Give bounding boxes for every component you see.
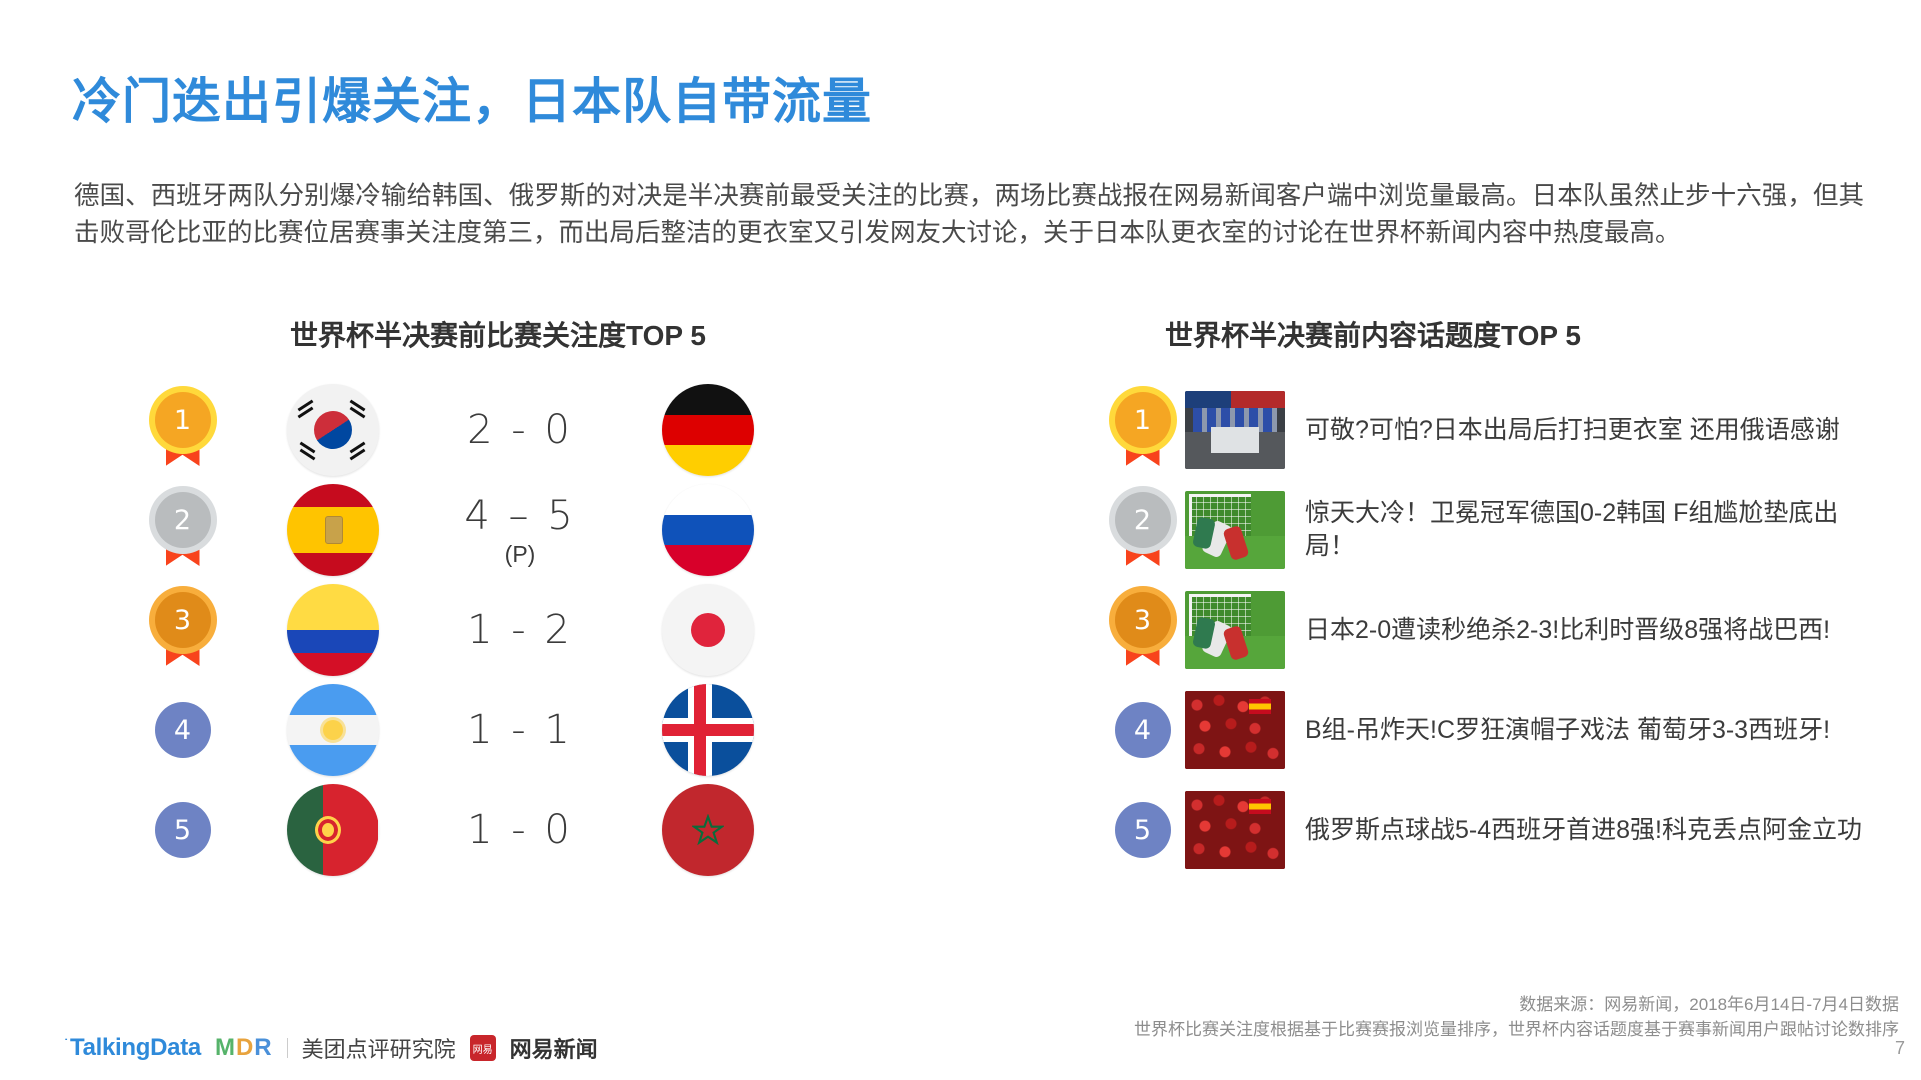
score-note: (P) xyxy=(505,541,536,568)
rank-number: 1 xyxy=(155,392,211,448)
flag-is xyxy=(662,684,754,776)
rank-badge-4: 4 xyxy=(155,702,211,758)
source-note: 数据来源：网易新闻，2018年6月14日-7月4日数据 世界杯比赛关注度根据基于… xyxy=(1134,992,1899,1042)
rank-cell: 5 xyxy=(1100,802,1185,858)
away-team-flag-cell xyxy=(620,384,795,476)
rank-number: 3 xyxy=(155,592,211,648)
away-team-flag-cell xyxy=(620,484,795,576)
topic-thumbnail xyxy=(1185,791,1285,869)
talkingdata-logo-text: TalkingData xyxy=(70,1034,201,1061)
page-title: 冷门迭出引爆关注，日本队自带流量 xyxy=(72,62,872,133)
topic-row[interactable]: 2惊天大冷！卫冕冠军德国0-2韩国 F组尴尬垫底出局！ xyxy=(1100,480,1890,580)
topic-row[interactable]: 5俄罗斯点球战5-4西班牙首进8强!科克丢点阿金立功 xyxy=(1100,780,1890,880)
meituan-research-logo: 美团点评研究院 xyxy=(302,1032,456,1064)
topic-headline[interactable]: B组-吊炸天!C罗狂演帽子戏法 葡萄牙3-3西班牙! xyxy=(1305,714,1865,747)
match-score: 1 - 1 xyxy=(467,707,573,753)
match-attention-list: 12 - 024 – 5(P)31 - 241 - 151 - 0 xyxy=(120,380,900,880)
argentina-sun-icon xyxy=(323,720,343,740)
flag-co xyxy=(287,584,379,676)
score-cell: 2 - 0 xyxy=(420,407,620,453)
topic-headline[interactable]: 惊天大冷！卫冕冠军德国0-2韩国 F组尴尬垫底出局！ xyxy=(1305,497,1865,563)
japan-sun-icon xyxy=(691,613,725,647)
morocco-pentagram-icon xyxy=(692,814,724,846)
mdr-logo-m: M xyxy=(215,1034,236,1061)
rank-number: 5 xyxy=(155,802,211,858)
flag-kr xyxy=(287,384,379,476)
rank-number: 1 xyxy=(1115,392,1171,448)
topic-thumbnail xyxy=(1185,391,1285,469)
mdr-logo: MDR xyxy=(215,1034,273,1062)
rank-number: 2 xyxy=(1115,492,1171,548)
mdr-logo-r: R xyxy=(254,1034,272,1061)
slide-page: 冷门迭出引爆关注，日本队自带流量 德国、西班牙两队分别爆冷输给韩国、俄罗斯的对决… xyxy=(0,0,1921,1080)
flag-de xyxy=(662,384,754,476)
netease-badge-icon: 网易 xyxy=(470,1035,496,1061)
topic-thumbnail xyxy=(1185,691,1285,769)
topic-thumbnail xyxy=(1185,491,1285,569)
logo-divider xyxy=(287,1038,288,1058)
talkingdata-dot-icon: ˙ xyxy=(64,1036,68,1051)
rank-badge-1: 1 xyxy=(155,392,211,468)
flag-pt xyxy=(287,784,379,876)
rank-cell: 4 xyxy=(120,702,245,758)
left-panel-title: 世界杯半决赛前比赛关注度TOP 5 xyxy=(290,314,706,354)
topic-row[interactable]: 4B组-吊炸天!C罗狂演帽子戏法 葡萄牙3-3西班牙! xyxy=(1100,680,1890,780)
rank-number: 3 xyxy=(1115,592,1171,648)
portugal-shield-icon xyxy=(315,816,341,844)
rank-number: 4 xyxy=(1115,702,1171,758)
away-team-flag-cell xyxy=(620,784,795,876)
away-team-flag-cell xyxy=(620,584,795,676)
match-row: 31 - 2 xyxy=(120,580,900,680)
rank-cell: 1 xyxy=(1100,392,1185,468)
score-cell: 1 - 2 xyxy=(420,607,620,653)
right-panel-title: 世界杯半决赛前内容话题度TOP 5 xyxy=(1165,314,1581,354)
rank-badge-4: 4 xyxy=(1115,702,1171,758)
topic-headline[interactable]: 可敬?可怕?日本出局后打扫更衣室 还用俄语感谢 xyxy=(1305,414,1865,447)
rank-number: 2 xyxy=(155,492,211,548)
match-score: 4 – 5 xyxy=(464,493,575,539)
rank-badge-3: 3 xyxy=(1115,592,1171,668)
rank-badge-5: 5 xyxy=(1115,802,1171,858)
source-line-2: 世界杯比赛关注度根据基于比赛赛报浏览量排序，世界杯内容话题度基于赛事新闻用户跟帖… xyxy=(1134,1017,1899,1042)
topic-row[interactable]: 1可敬?可怕?日本出局后打扫更衣室 还用俄语感谢 xyxy=(1100,380,1890,480)
spain-crest-icon xyxy=(325,516,343,544)
rank-badge-5: 5 xyxy=(155,802,211,858)
rank-cell: 5 xyxy=(120,802,245,858)
source-line-1: 数据来源：网易新闻，2018年6月14日-7月4日数据 xyxy=(1134,992,1899,1017)
page-number: 7 xyxy=(1895,1038,1905,1059)
flag-ar xyxy=(287,684,379,776)
flag-ru xyxy=(662,484,754,576)
rank-cell: 3 xyxy=(1100,592,1185,668)
rank-cell: 4 xyxy=(1100,702,1185,758)
match-score: 2 - 0 xyxy=(467,407,573,453)
score-cell: 1 - 1 xyxy=(420,707,620,753)
topic-row[interactable]: 3日本2-0遭读秒绝杀2-3!比利时晋级8强将战巴西! xyxy=(1100,580,1890,680)
rank-badge-1: 1 xyxy=(1115,392,1171,468)
score-cell: 1 - 0 xyxy=(420,807,620,853)
rank-badge-2: 2 xyxy=(1115,492,1171,568)
flag-ma xyxy=(662,784,754,876)
match-score: 1 - 0 xyxy=(467,807,573,853)
match-row: 41 - 1 xyxy=(120,680,900,780)
home-team-flag-cell xyxy=(245,784,420,876)
rank-number: 4 xyxy=(155,702,211,758)
topic-thumbnail xyxy=(1185,591,1285,669)
score-cell: 4 – 5(P) xyxy=(420,493,620,568)
netease-news-logo: 网易新闻 xyxy=(510,1032,598,1064)
match-row: 24 – 5(P) xyxy=(120,480,900,580)
rank-number: 5 xyxy=(1115,802,1171,858)
home-team-flag-cell xyxy=(245,584,420,676)
rank-badge-3: 3 xyxy=(155,592,211,668)
home-team-flag-cell xyxy=(245,384,420,476)
topic-headline[interactable]: 俄罗斯点球战5-4西班牙首进8强!科克丢点阿金立功 xyxy=(1305,814,1865,847)
flag-es xyxy=(287,484,379,576)
match-row: 12 - 0 xyxy=(120,380,900,480)
topic-headline[interactable]: 日本2-0遭读秒绝杀2-3!比利时晋级8强将战巴西! xyxy=(1305,614,1865,647)
rank-cell: 1 xyxy=(120,392,245,468)
talkingdata-logo: ˙ TalkingData xyxy=(70,1034,201,1062)
home-team-flag-cell xyxy=(245,684,420,776)
match-score: 1 - 2 xyxy=(467,607,573,653)
mdr-logo-d: D xyxy=(236,1034,254,1061)
away-team-flag-cell xyxy=(620,684,795,776)
match-row: 51 - 0 xyxy=(120,780,900,880)
rank-cell: 2 xyxy=(1100,492,1185,568)
logo-bar: ˙ TalkingData MDR 美团点评研究院 网易 网易新闻 xyxy=(70,1032,598,1064)
flag-jp xyxy=(662,584,754,676)
rank-cell: 3 xyxy=(120,592,245,668)
home-team-flag-cell xyxy=(245,484,420,576)
rank-cell: 2 xyxy=(120,492,245,568)
topic-attention-list: 1可敬?可怕?日本出局后打扫更衣室 还用俄语感谢2惊天大冷！卫冕冠军德国0-2韩… xyxy=(1100,380,1890,880)
rank-badge-2: 2 xyxy=(155,492,211,568)
intro-paragraph: 德国、西班牙两队分别爆冷输给韩国、俄罗斯的对决是半决赛前最受关注的比赛，两场比赛… xyxy=(74,178,1864,252)
